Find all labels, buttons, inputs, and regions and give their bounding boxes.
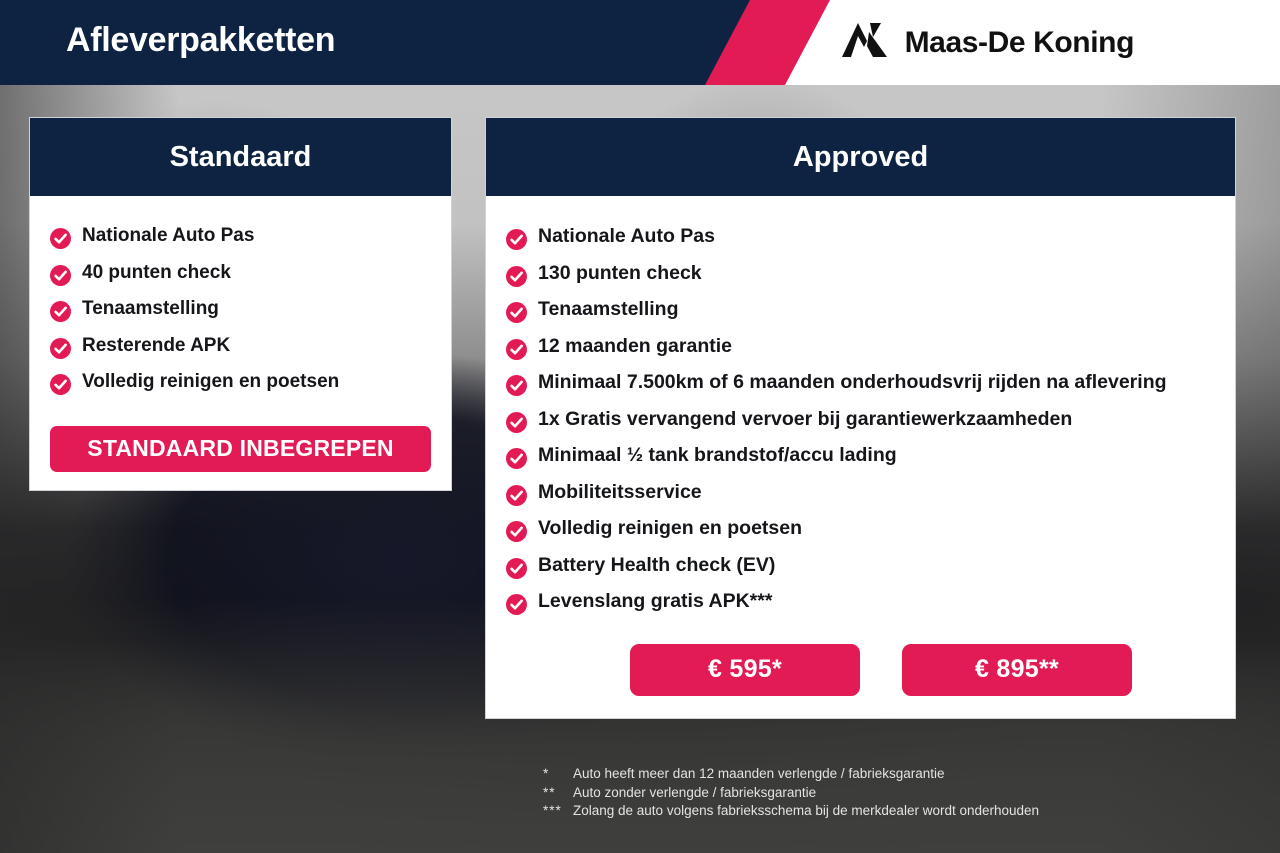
price-button-group: € 595* € 895** <box>506 644 1132 696</box>
list-item: Nationale Auto Pas <box>50 218 431 255</box>
check-circle-icon <box>506 591 527 612</box>
page-header: Afleverpakketten Maas-De Koning <box>0 0 1280 85</box>
check-circle-icon <box>506 482 527 503</box>
feature-label: Tenaamstelling <box>538 291 679 328</box>
list-item: 1x Gratis vervangend vervoer bij garanti… <box>506 401 1215 438</box>
brand-logo: Maas-De Koning <box>840 0 1134 85</box>
feature-list-approved: Nationale Auto Pas 130 punten check Tena… <box>506 218 1215 620</box>
package-card-approved: Approved Nationale Auto Pas 130 punten c… <box>485 117 1236 719</box>
footnote-text: Zolang de auto volgens fabrieksschema bi… <box>573 802 1039 821</box>
page-root: Afleverpakketten Maas-De Koning Standaar… <box>0 0 1280 853</box>
check-circle-icon <box>506 555 527 576</box>
footnote-text: Auto zonder verlengde / fabrieksgarantie <box>573 784 816 803</box>
list-item: 12 maanden garantie <box>506 328 1215 365</box>
brand-name: Maas-De Koning <box>905 26 1134 60</box>
check-circle-icon <box>506 263 527 284</box>
list-item: Mobiliteitsservice <box>506 474 1215 511</box>
list-item: Levenslang gratis APK*** <box>506 583 1215 620</box>
footnote-row: * Auto heeft meer dan 12 maanden verleng… <box>543 765 1039 784</box>
card-body-standaard: Nationale Auto Pas 40 punten check Tenaa… <box>30 196 451 490</box>
packages-container: Standaard Nationale Auto Pas 40 punten c… <box>0 0 1280 853</box>
price-button-595[interactable]: € 595* <box>630 644 860 696</box>
m-logo-icon <box>840 21 892 64</box>
list-item: 40 punten check <box>50 255 431 292</box>
check-circle-icon <box>506 372 527 393</box>
feature-label: Nationale Auto Pas <box>82 218 254 255</box>
check-circle-icon <box>50 226 71 247</box>
check-circle-icon <box>506 445 527 466</box>
list-item: Tenaamstelling <box>506 291 1215 328</box>
feature-label: 1x Gratis vervangend vervoer bij garanti… <box>538 401 1072 438</box>
feature-label: 12 maanden garantie <box>538 328 732 365</box>
feature-label: Volledig reinigen en poetsen <box>82 364 339 401</box>
feature-label: Battery Health check (EV) <box>538 547 775 584</box>
feature-label: 130 punten check <box>538 255 702 292</box>
price-button-895[interactable]: € 895** <box>902 644 1132 696</box>
footnote-text: Auto heeft meer dan 12 maanden verlengde… <box>573 765 945 784</box>
footnote-marker: ** <box>543 784 573 803</box>
standaard-inbegrepen-button[interactable]: STANDAARD INBEGREPEN <box>50 426 431 472</box>
feature-label: 40 punten check <box>82 255 231 292</box>
check-circle-icon <box>506 409 527 430</box>
check-circle-icon <box>50 299 71 320</box>
footnotes: * Auto heeft meer dan 12 maanden verleng… <box>543 765 1039 821</box>
list-item: 130 punten check <box>506 255 1215 292</box>
feature-label: Resterende APK <box>82 328 230 365</box>
footnote-row: *** Zolang de auto volgens fabrieksschem… <box>543 802 1039 821</box>
list-item: Minimaal ½ tank brandstof/accu lading <box>506 437 1215 474</box>
list-item: Tenaamstelling <box>50 291 431 328</box>
list-item: Battery Health check (EV) <box>506 547 1215 584</box>
feature-label: Tenaamstelling <box>82 291 219 328</box>
feature-label: Minimaal ½ tank brandstof/accu lading <box>538 437 897 474</box>
check-circle-icon <box>50 336 71 357</box>
feature-label: Volledig reinigen en poetsen <box>538 510 802 547</box>
list-item: Nationale Auto Pas <box>506 218 1215 255</box>
list-item: Volledig reinigen en poetsen <box>506 510 1215 547</box>
check-circle-icon <box>50 263 71 284</box>
check-circle-icon <box>506 336 527 357</box>
card-title-approved: Approved <box>486 118 1235 196</box>
feature-list-standaard: Nationale Auto Pas 40 punten check Tenaa… <box>50 218 431 401</box>
check-circle-icon <box>506 226 527 247</box>
footnote-marker: * <box>543 765 573 784</box>
list-item: Minimaal 7.500km of 6 maanden onderhouds… <box>506 364 1215 401</box>
footnote-row: ** Auto zonder verlengde / fabrieksgaran… <box>543 784 1039 803</box>
footnote-marker: *** <box>543 802 573 821</box>
list-item: Resterende APK <box>50 328 431 365</box>
check-circle-icon <box>50 372 71 393</box>
page-title: Afleverpakketten <box>66 21 335 60</box>
feature-label: Nationale Auto Pas <box>538 218 715 255</box>
feature-label: Mobiliteitsservice <box>538 474 702 511</box>
card-body-approved: Nationale Auto Pas 130 punten check Tena… <box>486 196 1235 718</box>
feature-label: Minimaal 7.500km of 6 maanden onderhouds… <box>538 364 1167 401</box>
package-card-standaard: Standaard Nationale Auto Pas 40 punten c… <box>29 117 452 491</box>
check-circle-icon <box>506 518 527 539</box>
card-title-standaard: Standaard <box>30 118 451 196</box>
list-item: Volledig reinigen en poetsen <box>50 364 431 401</box>
feature-label: Levenslang gratis APK*** <box>538 583 772 620</box>
check-circle-icon <box>506 299 527 320</box>
